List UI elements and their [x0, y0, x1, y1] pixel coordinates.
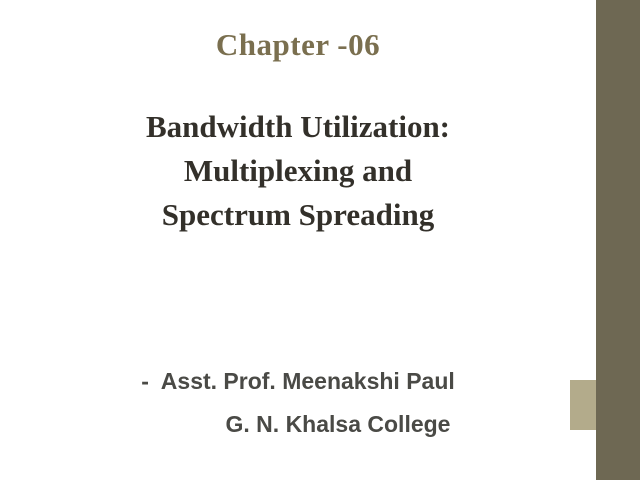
presentation-slide: Chapter -06 Bandwidth Utilization: Multi… [0, 0, 640, 480]
author-name: - Asst. Prof. Meenakshi Paul [0, 368, 596, 395]
chapter-label: Chapter -06 [0, 26, 596, 63]
title-area: Chapter -06 Bandwidth Utilization: Multi… [0, 26, 596, 237]
author-area: - Asst. Prof. Meenakshi Paul G. N. Khals… [0, 368, 596, 438]
page-title: Bandwidth Utilization: Multiplexing and … [0, 105, 596, 237]
title-line-1: Bandwidth Utilization: [0, 105, 596, 149]
right-decorative-bar [596, 0, 640, 480]
title-line-2: Multiplexing and [0, 149, 596, 193]
title-line-3: Spectrum Spreading [0, 193, 596, 237]
author-affiliation: G. N. Khalsa College [0, 411, 596, 438]
